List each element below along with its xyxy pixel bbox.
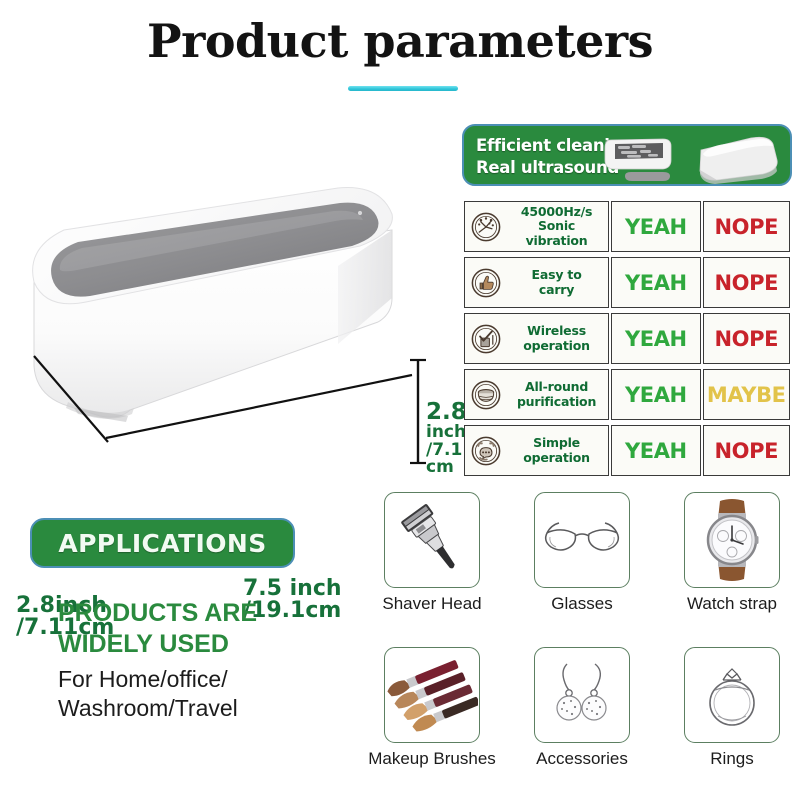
feature-label-line1: 45000Hz/s — [505, 205, 608, 220]
shaver-head-image — [387, 495, 477, 585]
feature-cell: All-round purification — [464, 369, 609, 420]
feature-label-line1: All-round — [505, 380, 608, 395]
makeup-brushes-image — [386, 649, 478, 741]
verdict-ours: YEAH — [625, 215, 687, 239]
feature-label: All-round purification — [505, 380, 608, 409]
application-card-frame — [384, 492, 480, 588]
product-photo-with-dimensions: 2.8 inch /7.11 cm 7.5 inch /19.1cm 2.8in… — [8, 170, 458, 490]
table-row: Simple operation YEAH NOPE — [464, 425, 790, 476]
verdict-theirs: NOPE — [714, 327, 778, 351]
theirs-cell: NOPE — [703, 257, 790, 308]
glasses-image — [537, 495, 627, 585]
feature-label-line2: purification — [505, 395, 608, 410]
closed-ultrasonic-cleaner-image — [700, 137, 777, 184]
feature-label: Easy to carry — [505, 268, 608, 297]
feature-cell: 45000Hz/s Sonic vibration — [464, 201, 609, 252]
ours-cell: YEAH — [611, 313, 700, 364]
ring-image — [687, 650, 777, 740]
application-label: Watch strap — [662, 594, 800, 614]
application-card-frame — [534, 647, 630, 743]
application-card-frame — [384, 647, 480, 743]
application-card-glasses[interactable]: Glasses — [512, 492, 652, 614]
table-row: 45000Hz/s Sonic vibration YEAH NOPE — [464, 201, 790, 252]
theirs-cell: MAYBE — [703, 369, 790, 420]
feature-cell: Wireless operation — [464, 313, 609, 364]
table-row: Wireless operation YEAH NOPE — [464, 313, 790, 364]
open-ultrasonic-cleaner-image — [605, 139, 671, 169]
application-card-accessories[interactable]: Accessories — [512, 647, 652, 769]
verdict-theirs: NOPE — [714, 439, 778, 463]
feature-cell: Easy to carry — [464, 257, 609, 308]
feature-label-line1: Wireless — [505, 324, 608, 339]
verdict-theirs: NOPE — [714, 215, 778, 239]
application-label: Accessories — [512, 749, 652, 769]
table-row: Easy to carry YEAH NOPE — [464, 257, 790, 308]
applications-badge-label: APPLICATIONS — [58, 529, 266, 558]
feature-cell: Simple operation — [464, 425, 609, 476]
application-card-frame — [684, 492, 780, 588]
applications-grid: Shaver Head Glas — [362, 492, 798, 797]
application-card-rings[interactable]: Rings — [662, 647, 800, 769]
feature-label-line2: operation — [505, 451, 608, 466]
verdict-ours: YEAH — [625, 271, 687, 295]
ultrasonic-cleaner-photo — [8, 170, 458, 490]
applications-heading: PRODUCTS ARE WIDELY USED — [58, 598, 338, 659]
feature-label-line1: Easy to — [505, 268, 608, 283]
application-label: Makeup Brushes — [362, 749, 502, 769]
simple-operation-icon — [469, 434, 503, 468]
feature-label: Wireless operation — [505, 324, 608, 353]
applications-heading-line2: WIDELY USED — [58, 629, 338, 660]
ours-cell: YEAH — [611, 201, 700, 252]
page-title: Product parameters — [0, 14, 800, 68]
application-label: Rings — [662, 749, 800, 769]
verdict-ours: YEAH — [625, 383, 687, 407]
application-card-frame — [684, 647, 780, 743]
applications-subtext-line2: Washroom/Travel — [58, 694, 348, 723]
table-row: All-round purification YEAH MAYBE — [464, 369, 790, 420]
applications-subtext: For Home/office/ Washroom/Travel — [58, 665, 348, 723]
purification-bowl-icon — [469, 378, 503, 412]
sonic-vibration-icon — [469, 210, 503, 244]
verdict-ours: YEAH — [625, 327, 687, 351]
feature-label: 45000Hz/s Sonic vibration — [505, 205, 608, 249]
ours-cell: YEAH — [611, 369, 700, 420]
feature-label-line1: Simple — [505, 436, 608, 451]
applications-badge: APPLICATIONS — [30, 518, 295, 568]
earrings-accessories-image — [537, 650, 627, 740]
title-underline-rule — [348, 86, 458, 91]
header-product-images — [601, 126, 786, 186]
feature-label-line2: operation — [505, 339, 608, 354]
application-card-frame — [534, 492, 630, 588]
applications-subtext-line1: For Home/office/ — [58, 665, 348, 694]
application-label: Shaver Head — [362, 594, 502, 614]
detached-lid-image — [625, 172, 670, 181]
theirs-cell: NOPE — [703, 201, 790, 252]
application-card-shaver-head[interactable]: Shaver Head — [362, 492, 502, 614]
feature-label-line2: Sonic vibration — [505, 219, 608, 248]
theirs-cell: NOPE — [703, 313, 790, 364]
application-label: Glasses — [512, 594, 652, 614]
watch-strap-image — [687, 495, 777, 585]
dimension-height-value: 2.8 — [426, 399, 467, 425]
ours-cell: YEAH — [611, 257, 700, 308]
comparison-table: 45000Hz/s Sonic vibration YEAH NOPE — [464, 201, 790, 477]
feature-label: Simple operation — [505, 436, 608, 465]
wireless-check-icon — [469, 322, 503, 356]
thumbs-up-icon — [469, 266, 503, 300]
theirs-cell: NOPE — [703, 425, 790, 476]
applications-heading-line1: PRODUCTS ARE — [58, 598, 338, 629]
verdict-theirs: MAYBE — [707, 383, 786, 407]
verdict-theirs: NOPE — [714, 271, 778, 295]
ours-cell: YEAH — [611, 425, 700, 476]
product-parameters-infographic: Product parameters — [0, 0, 800, 800]
comparison-header-banner: Efficient cleaning Real ultrasound — [462, 124, 792, 186]
application-card-makeup-brushes[interactable]: Makeup Brushes — [362, 647, 502, 769]
verdict-ours: YEAH — [625, 439, 687, 463]
feature-label-line2: carry — [505, 283, 608, 298]
application-card-watch-strap[interactable]: Watch strap — [662, 492, 800, 614]
